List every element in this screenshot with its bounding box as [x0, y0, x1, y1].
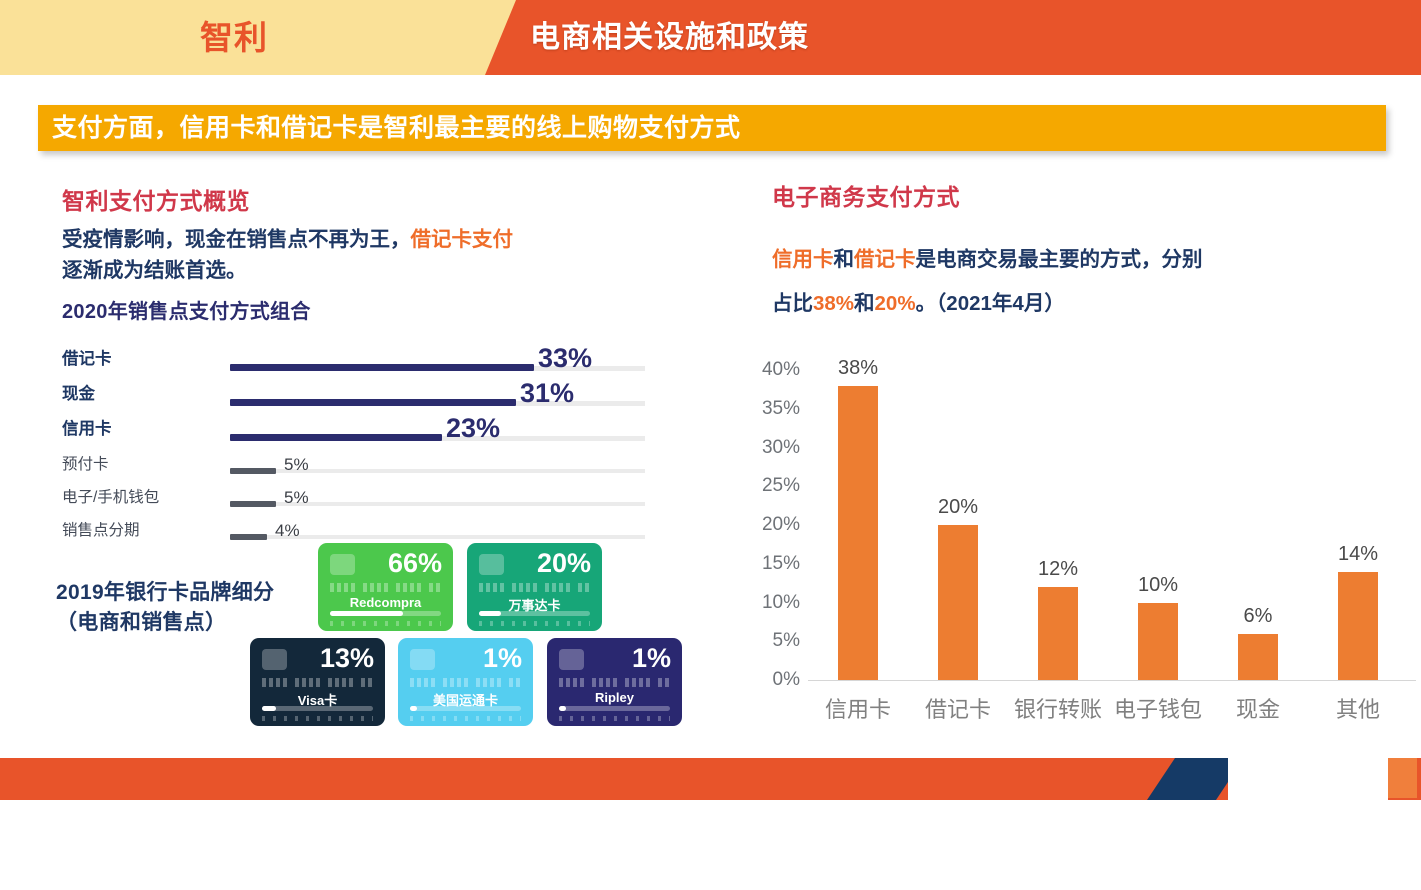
right-lead-seg9: 。（2021年4月） — [916, 292, 1065, 315]
pos-mix-bar-list: 借记卡33%现金31%信用卡23%预付卡5%电子/手机钱包5%销售点分期4% — [62, 342, 652, 546]
right-lead-seg8: 20% — [875, 292, 916, 315]
pos-mix-row: 电子/手机钱包5% — [62, 480, 652, 513]
pos-mix-row-fill — [230, 501, 276, 507]
chart-bar-group: 14% — [1308, 370, 1408, 680]
chart-plot-area: 38%20%12%10%6%14% — [808, 370, 1408, 680]
chart-x-tick-label: 其他 — [1308, 692, 1408, 724]
pos-mix-row-label: 销售点分期 — [62, 513, 140, 548]
chart-bar-value-label: 38% — [808, 357, 908, 380]
card-brand-value: 20% — [537, 548, 591, 579]
page-section-title: 电商相关设施和政策 — [530, 14, 809, 62]
card-number-icon — [262, 678, 374, 687]
chart-y-tick-label: 35% — [740, 398, 800, 420]
card-brand-value: 66% — [388, 548, 442, 579]
chart-y-tick-label: 5% — [740, 630, 800, 652]
left-panel: 智利支付方式概览 受疫情影响，现金在销售点不再为王，借记卡支付 逐渐成为结账首选… — [0, 160, 700, 750]
card-progress-track — [559, 706, 670, 711]
card-edge-dots-icon — [410, 716, 521, 721]
chart-bar-group: 20% — [908, 370, 1008, 680]
headline-banner: 支付方面，信用卡和借记卡是智利最主要的线上购物支付方式 — [38, 105, 1386, 151]
right-panel-heading: 电子商务支付方式 — [772, 178, 960, 212]
card-brand-value: 1% — [483, 643, 522, 674]
card-brand-tile: 20%万事达卡 — [467, 543, 602, 631]
pos-mix-row: 销售点分期4% — [62, 513, 652, 546]
pos-mix-row: 信用卡23% — [62, 412, 652, 447]
pos-mix-row-fill — [230, 399, 516, 406]
chart-y-axis: 40%35%30%25%20%15%10%5%0% — [740, 370, 800, 680]
pos-mix-row-fill — [230, 534, 267, 540]
pos-mix-row-label: 电子/手机钱包 — [62, 480, 159, 515]
pos-mix-row-fill — [230, 434, 442, 441]
pos-mix-row: 借记卡33% — [62, 342, 652, 377]
card-progress-track — [410, 706, 521, 711]
chart-bar-group: 38% — [808, 370, 908, 680]
right-lead-seg4: 是电商交易最主要的方式，分别 — [916, 248, 1203, 271]
card-number-icon — [410, 678, 522, 687]
pos-mix-row-value: 33% — [538, 342, 592, 377]
card-edge-dots-icon — [559, 716, 670, 721]
chart-y-tick-label: 30% — [740, 437, 800, 459]
card-progress-fill — [479, 611, 501, 616]
pos-mix-row: 预付卡5% — [62, 447, 652, 480]
page-footer: om S Shopee — [0, 758, 1421, 800]
card-progress-track — [330, 611, 441, 616]
pos-mix-row-fill — [230, 364, 534, 371]
pos-mix-row-value: 5% — [284, 480, 309, 515]
card-edge-dots-icon — [330, 621, 441, 626]
card-progress-track — [262, 706, 373, 711]
chart-baseline — [808, 680, 1416, 681]
card-brand-tile: 13%Visa卡 — [250, 638, 385, 726]
card-edge-dots-icon — [262, 716, 373, 721]
card-brand-split-label-line1: 2019年银行卡品牌细分 — [56, 581, 274, 604]
left-lead-part1: 受疫情影响，现金在销售点不再为王， — [62, 228, 411, 251]
right-panel: 电子商务支付方式 信用卡和借记卡是电商交易最主要的方式，分别 占比38%和20%… — [700, 160, 1421, 750]
card-brand-split-label-line2: （电商和销售点） — [56, 611, 226, 634]
card-progress-fill — [262, 706, 276, 711]
pos-mix-row: 现金31% — [62, 377, 652, 412]
pos-mix-row-label: 信用卡 — [62, 412, 112, 447]
left-lead-highlight: 借记卡支付 — [411, 228, 514, 251]
right-panel-lead-text: 信用卡和借记卡是电商交易最主要的方式，分别 占比38%和20%。（2021年4月… — [772, 238, 1392, 326]
pos-mix-row-value: 23% — [446, 412, 500, 447]
page-header: 智利 电商相关设施和政策 — [0, 0, 1421, 75]
chart-bar — [938, 525, 978, 680]
card-brand-tiles: 66%Redcompra20%万事达卡13%Visa卡1%美国运通卡1%Ripl… — [250, 543, 670, 723]
footer-logo-box: S Shopee — [1228, 758, 1388, 800]
chart-bar-group: 6% — [1208, 370, 1308, 680]
chart-x-tick-label: 现金 — [1208, 692, 1308, 724]
card-brand-value: 1% — [632, 643, 671, 674]
ecommerce-payment-bar-chart: 40%35%30%25%20%15%10%5%0% 38%20%12%10%6%… — [730, 360, 1420, 890]
card-brand-tile: 1%美国运通卡 — [398, 638, 533, 726]
card-chip-icon — [559, 649, 584, 670]
footer-accent-shape — [0, 758, 1421, 800]
chart-bar — [1138, 603, 1178, 681]
pos-mix-row-value: 31% — [520, 377, 574, 412]
pos-mix-row-label: 现金 — [62, 377, 95, 412]
chart-x-tick-label: 银行转账 — [1008, 692, 1108, 724]
left-panel-lead-text: 受疫情影响，现金在销售点不再为王，借记卡支付 逐渐成为结账首选。 — [62, 224, 662, 286]
right-lead-seg5: 占比 — [772, 292, 813, 315]
chart-bar-value-label: 12% — [1008, 558, 1108, 581]
pos-mix-row-label: 借记卡 — [62, 342, 112, 377]
card-progress-track — [479, 611, 590, 616]
chart-y-tick-label: 20% — [740, 514, 800, 536]
card-brand-name: Ripley — [547, 690, 682, 705]
card-chip-icon — [410, 649, 435, 670]
right-lead-seg1: 信用卡 — [772, 248, 834, 271]
card-brand-split-label: 2019年银行卡品牌细分 （电商和销售点） — [56, 578, 274, 638]
card-progress-fill — [410, 706, 417, 711]
card-number-icon — [479, 583, 591, 592]
chart-bar — [1238, 634, 1278, 681]
card-progress-fill — [330, 611, 403, 616]
chart-bar-value-label: 20% — [908, 496, 1008, 519]
chart-bar-value-label: 10% — [1108, 574, 1208, 597]
pos-mix-chart-title: 2020年销售点支付方式组合 — [62, 295, 311, 324]
card-brand-tile: 66%Redcompra — [318, 543, 453, 631]
pos-mix-row-value: 5% — [284, 447, 309, 482]
pos-mix-row-label: 预付卡 — [62, 447, 109, 482]
chart-bar — [1338, 572, 1378, 681]
card-brand-value: 13% — [320, 643, 374, 674]
chart-y-tick-label: 10% — [740, 592, 800, 614]
chart-bar-value-label: 6% — [1208, 605, 1308, 628]
card-edge-dots-icon — [479, 621, 590, 626]
card-number-icon — [559, 678, 671, 687]
chart-bar — [838, 386, 878, 681]
headline-banner-text: 支付方面，信用卡和借记卡是智利最主要的线上购物支付方式 — [52, 105, 741, 151]
card-brand-name: Redcompra — [318, 595, 453, 610]
card-chip-icon — [262, 649, 287, 670]
card-progress-fill — [559, 706, 566, 711]
pos-mix-row-fill — [230, 468, 276, 474]
chart-bar-value-label: 14% — [1308, 543, 1408, 566]
card-brand-tile: 1%Ripley — [547, 638, 682, 726]
chart-y-tick-label: 15% — [740, 553, 800, 575]
chart-y-tick-label: 25% — [740, 475, 800, 497]
chart-x-tick-label: 电子钱包 — [1108, 692, 1208, 724]
chart-x-tick-label: 信用卡 — [808, 692, 908, 724]
left-panel-heading: 智利支付方式概览 — [62, 182, 250, 216]
right-lead-seg2: 和 — [834, 248, 855, 271]
chart-bar-group: 10% — [1108, 370, 1208, 680]
right-lead-seg7: 和 — [854, 292, 875, 315]
chart-x-tick-label: 借记卡 — [908, 692, 1008, 724]
chart-bar — [1038, 587, 1078, 680]
page-country-title: 智利 — [200, 15, 500, 61]
chart-bar-group: 12% — [1008, 370, 1108, 680]
chart-y-tick-label: 0% — [740, 669, 800, 691]
right-lead-seg3: 借记卡 — [854, 248, 916, 271]
card-chip-icon — [479, 554, 504, 575]
card-chip-icon — [330, 554, 355, 575]
card-number-icon — [330, 583, 442, 592]
left-lead-part2: 逐渐成为结账首选。 — [62, 259, 247, 282]
right-lead-seg6: 38% — [813, 292, 854, 315]
chart-y-tick-label: 40% — [740, 359, 800, 381]
